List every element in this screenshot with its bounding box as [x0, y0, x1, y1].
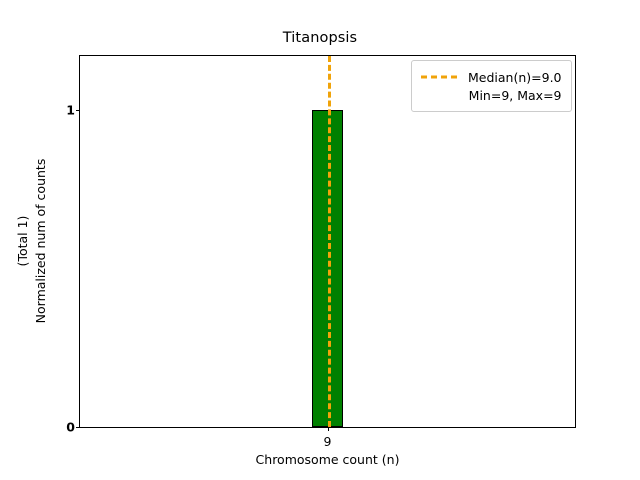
y-tick-mark	[76, 110, 80, 111]
legend: Median(n)=9.0 Min=9, Max=9	[411, 60, 572, 112]
x-tick-mark	[328, 427, 329, 431]
y-tick-label: 0	[66, 420, 75, 435]
chart-figure: Titanopsis 0 1 9 Chromosome count (n) (T…	[0, 0, 640, 480]
median-line	[328, 56, 331, 427]
legend-entry-minmax: Min=9, Max=9	[421, 86, 562, 104]
y-axis-label-line1: Normalized num of counts	[32, 159, 50, 324]
y-tick-label: 1	[66, 102, 75, 117]
legend-label-minmax: Min=9, Max=9	[469, 88, 562, 103]
legend-entry-median: Median(n)=9.0	[421, 68, 562, 86]
y-axis-label: (Total 1) Normalized num of counts	[14, 159, 50, 324]
dashed-line-icon	[421, 71, 457, 83]
y-tick-mark	[76, 427, 80, 428]
y-axis-label-line2: (Total 1)	[14, 159, 32, 324]
x-tick-label: 9	[324, 434, 332, 449]
y-axis-label-wrapper: (Total 1) Normalized num of counts	[0, 0, 64, 480]
legend-label-median: Median(n)=9.0	[468, 70, 562, 85]
x-axis-label: Chromosome count (n)	[79, 452, 576, 467]
chart-title: Titanopsis	[0, 30, 640, 46]
